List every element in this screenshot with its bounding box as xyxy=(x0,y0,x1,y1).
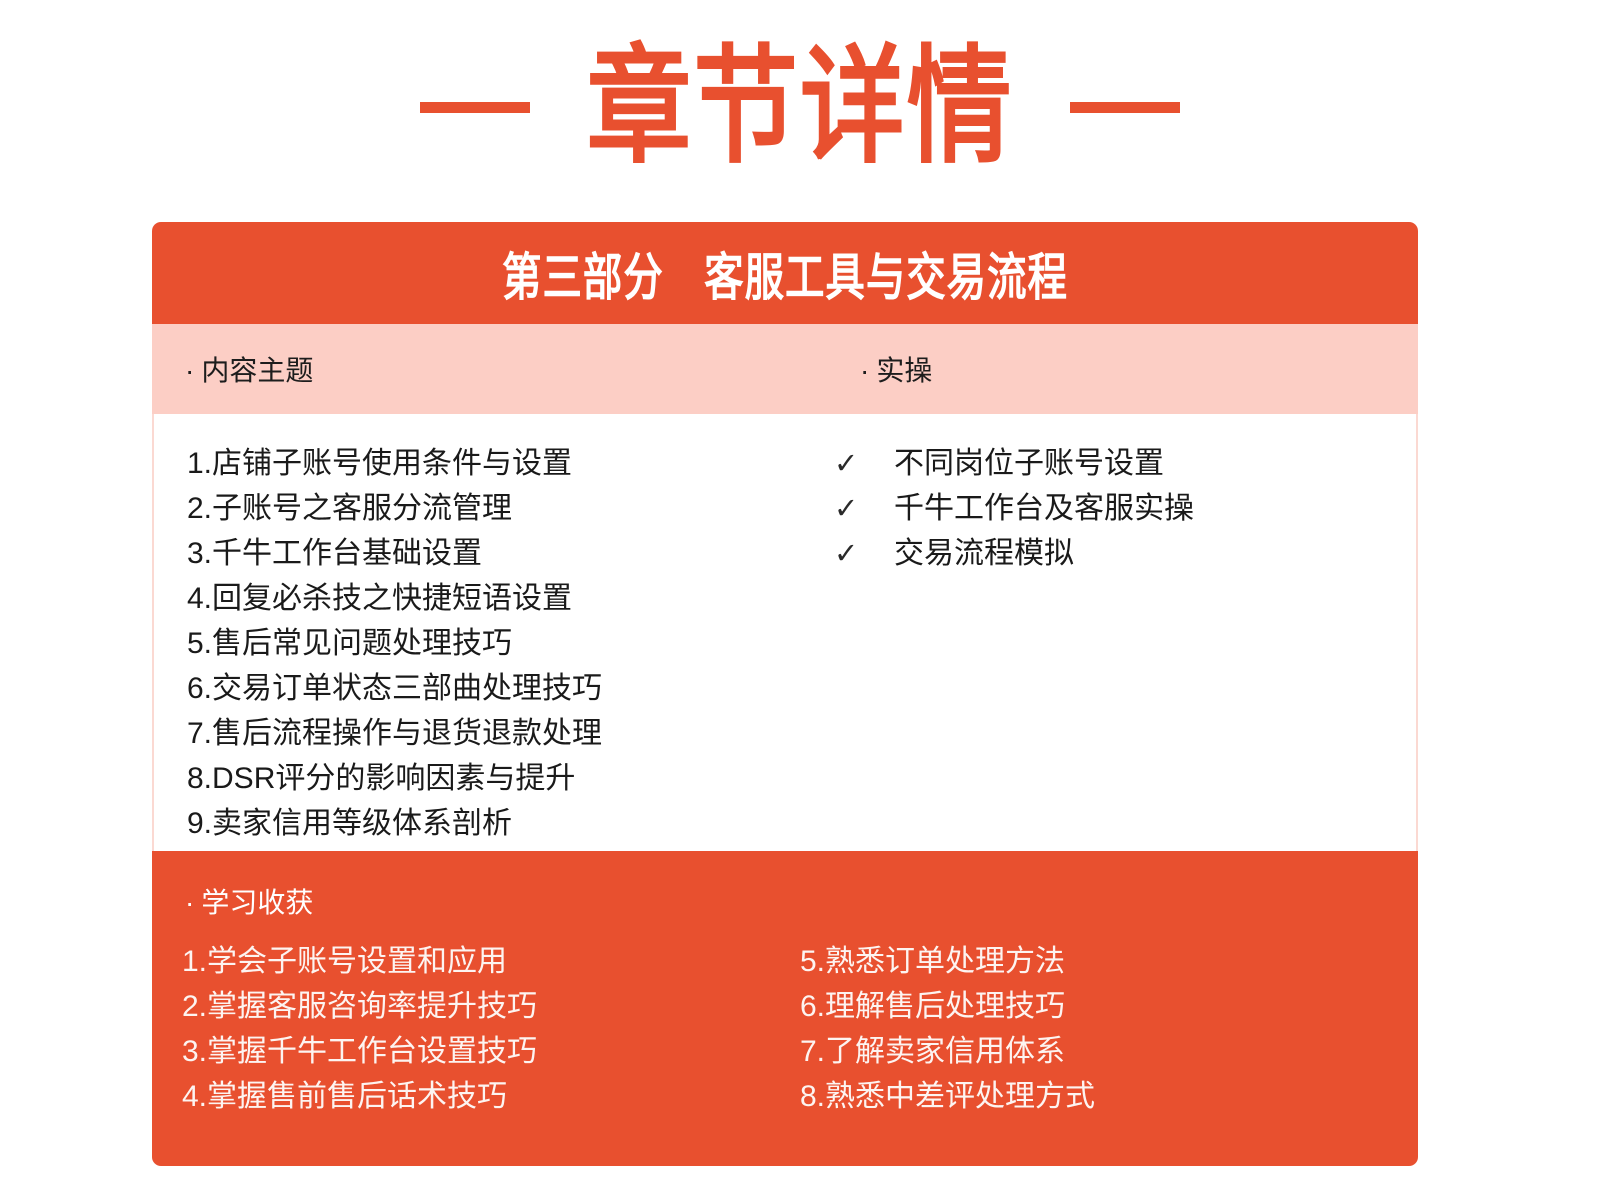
learning-gains-heading-label: 学习收获 xyxy=(201,887,313,918)
chapter-card: 第三部分 客服工具与交易流程 ·内容主题 ·实操 1.店铺子账号使用条件与设置 … xyxy=(152,222,1418,1166)
card-footer: ·学习收获 1.学会子账号设置和应用 2.掌握客服咨询率提升技巧 3.掌握千牛工… xyxy=(152,851,1418,1166)
check-icon: ✓ xyxy=(834,486,894,531)
practice-item-label: 交易流程模拟 xyxy=(894,531,1074,576)
list-item: 6.理解售后处理技巧 xyxy=(800,984,1095,1029)
list-item: ✓ 不同岗位子账号设置 xyxy=(834,441,1374,486)
card-body: 1.店铺子账号使用条件与设置 2.子账号之客服分流管理 3.千牛工作台基础设置 … xyxy=(152,414,1418,851)
list-item: 2.掌握客服咨询率提升技巧 xyxy=(182,984,537,1029)
subheader-content-topics: ·内容主题 xyxy=(185,349,313,389)
subheader-practice: ·实操 xyxy=(860,349,932,389)
list-item: 4.掌握售前售后话术技巧 xyxy=(182,1074,537,1119)
bullet-icon: · xyxy=(185,887,194,918)
list-item: 6.交易订单状态三部曲处理技巧 xyxy=(187,666,827,711)
list-item: 7.售后流程操作与退货退款处理 xyxy=(187,711,827,756)
learning-gains-list-left: 1.学会子账号设置和应用 2.掌握客服咨询率提升技巧 3.掌握千牛工作台设置技巧… xyxy=(182,939,537,1119)
check-icon: ✓ xyxy=(834,531,894,576)
list-item: 5.熟悉订单处理方法 xyxy=(800,939,1095,984)
list-item: 9.卖家信用等级体系剖析 xyxy=(187,801,827,846)
list-item: 3.千牛工作台基础设置 xyxy=(187,531,827,576)
list-item: 1.学会子账号设置和应用 xyxy=(182,939,537,984)
list-item: ✓ 交易流程模拟 xyxy=(834,531,1374,576)
list-item: 1.店铺子账号使用条件与设置 xyxy=(187,441,827,486)
page-title: 章节详情 xyxy=(587,41,1014,175)
practice-item-label: 千牛工作台及客服实操 xyxy=(894,486,1194,531)
subheader-practice-label: 实操 xyxy=(876,355,932,386)
check-icon: ✓ xyxy=(834,441,894,486)
card-header: 第三部分 客服工具与交易流程 xyxy=(152,222,1418,324)
card-subheader: ·内容主题 ·实操 xyxy=(152,324,1418,414)
page-title-row: 章节详情 xyxy=(0,40,1600,175)
dash-left-icon xyxy=(420,102,530,113)
list-item: 7.了解卖家信用体系 xyxy=(800,1029,1095,1074)
bullet-icon: · xyxy=(185,355,194,386)
learning-gains-list-right: 5.熟悉订单处理方法 6.理解售后处理技巧 7.了解卖家信用体系 8.熟悉中差评… xyxy=(800,939,1095,1119)
dash-right-icon xyxy=(1070,102,1180,113)
list-item: 5.售后常见问题处理技巧 xyxy=(187,621,827,666)
card-header-title: 第三部分 客服工具与交易流程 xyxy=(502,236,1068,310)
chapter-detail-page: 章节详情 第三部分 客服工具与交易流程 ·内容主题 ·实操 1.店铺子账号使用条… xyxy=(0,0,1600,1199)
practice-list: ✓ 不同岗位子账号设置 ✓ 千牛工作台及客服实操 ✓ 交易流程模拟 xyxy=(834,441,1374,576)
practice-item-label: 不同岗位子账号设置 xyxy=(894,441,1164,486)
list-item: 4.回复必杀技之快捷短语设置 xyxy=(187,576,827,621)
list-item: 8.DSR评分的影响因素与提升 xyxy=(187,756,827,801)
list-item: ✓ 千牛工作台及客服实操 xyxy=(834,486,1374,531)
subheader-content-topics-label: 内容主题 xyxy=(201,355,313,386)
content-topics-list: 1.店铺子账号使用条件与设置 2.子账号之客服分流管理 3.千牛工作台基础设置 … xyxy=(187,441,827,846)
list-item: 3.掌握千牛工作台设置技巧 xyxy=(182,1029,537,1074)
list-item: 2.子账号之客服分流管理 xyxy=(187,486,827,531)
bullet-icon: · xyxy=(860,355,869,386)
learning-gains-heading: ·学习收获 xyxy=(185,881,313,921)
list-item: 8.熟悉中差评处理方式 xyxy=(800,1074,1095,1119)
